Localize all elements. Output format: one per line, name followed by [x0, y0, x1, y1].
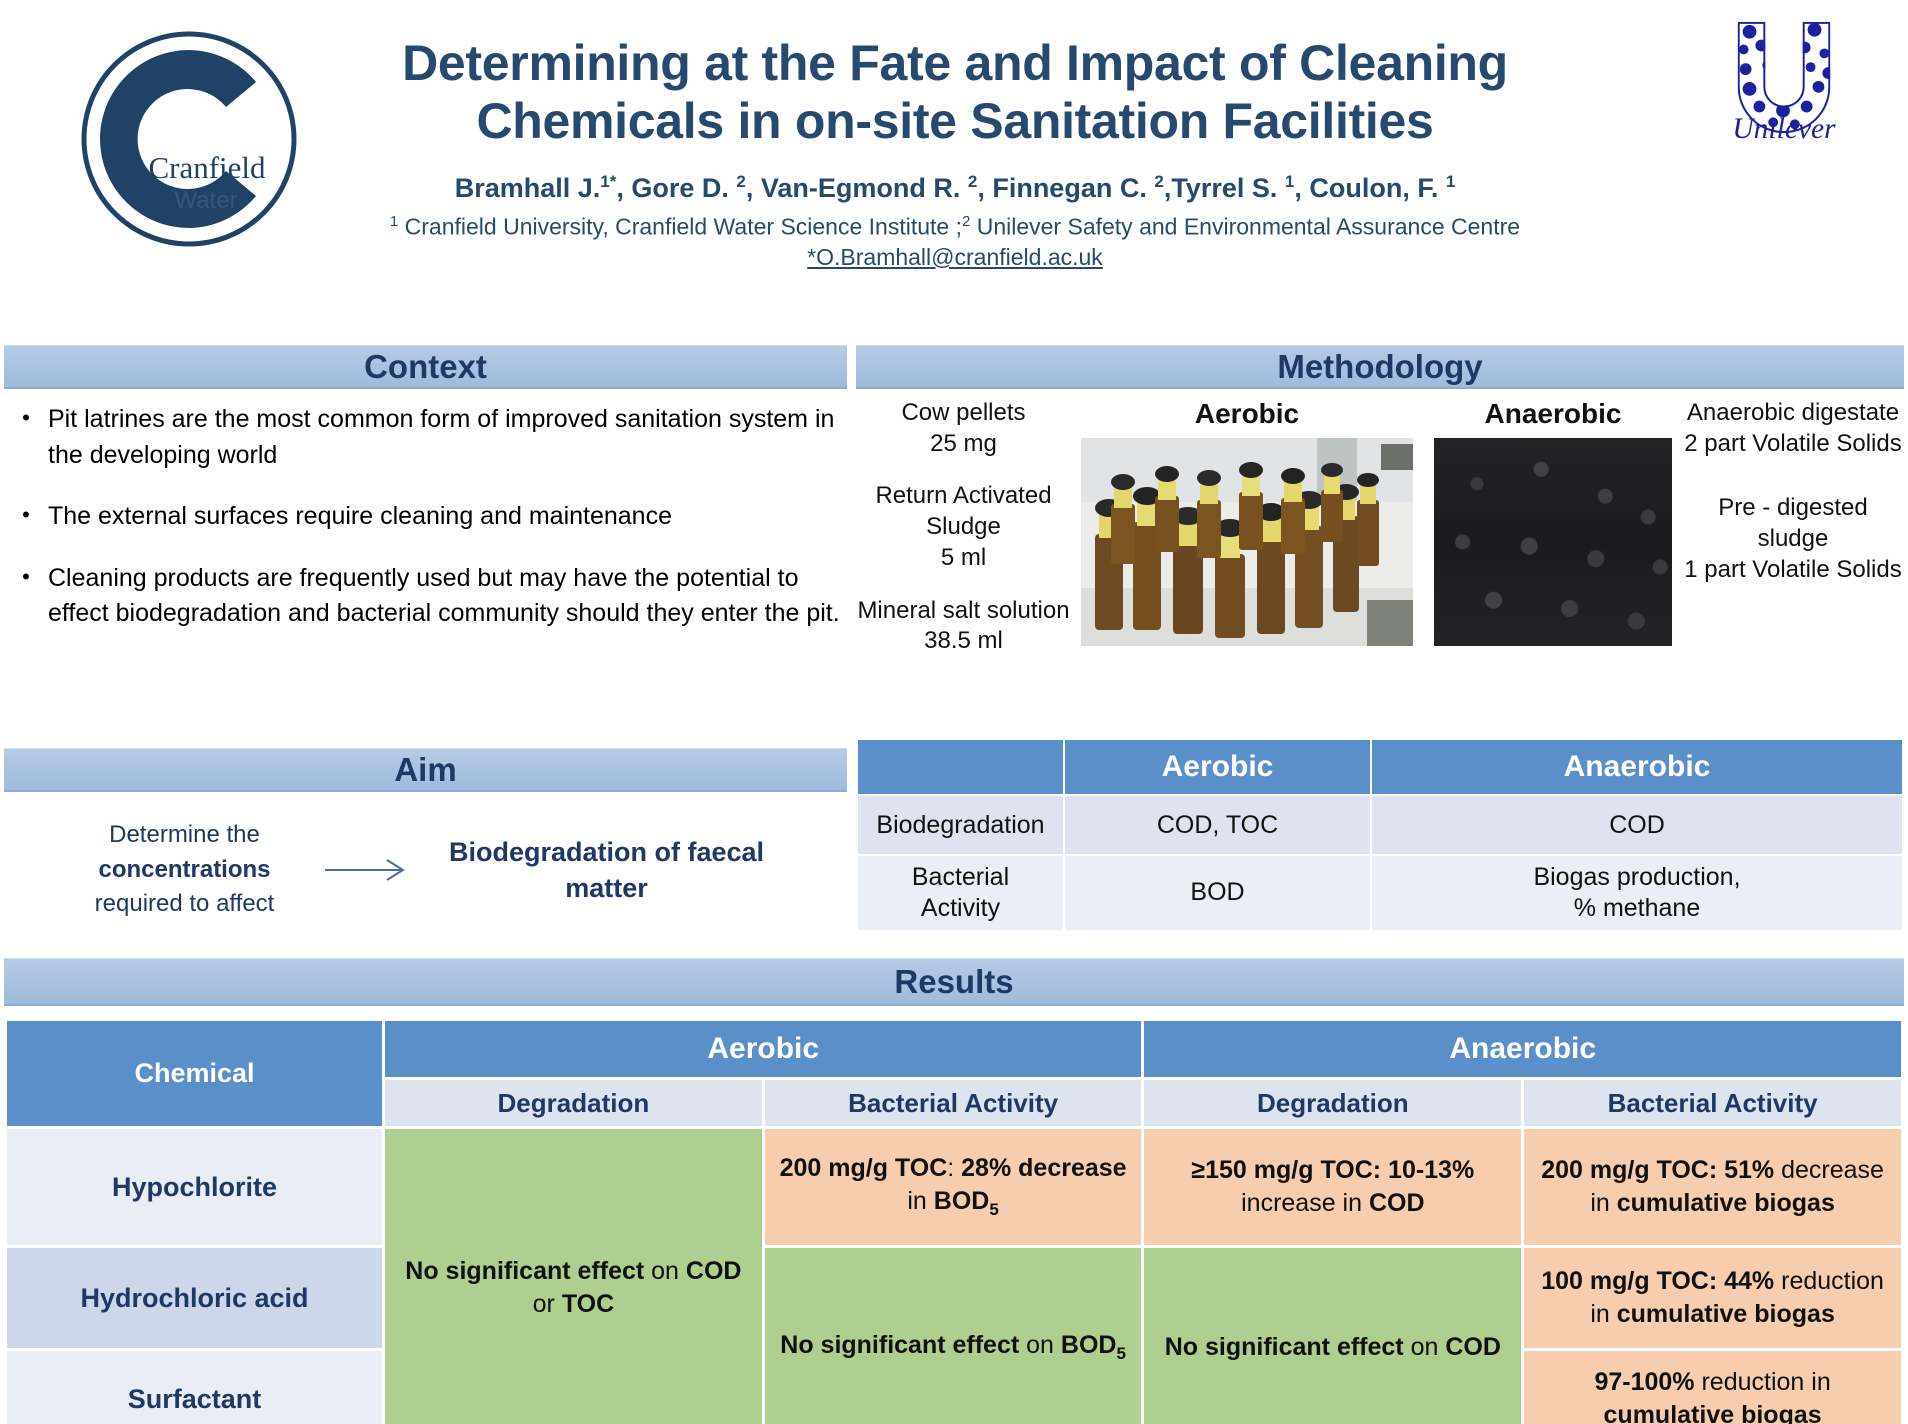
cell-anaerobic-degradation-merged: No significant effect on COD	[1144, 1248, 1521, 1424]
table-row: BacterialActivity BOD Biogas production,…	[858, 856, 1902, 930]
cranfield-logo-line2: Water	[174, 187, 237, 214]
context-bullet-text: Pit latrines are the most common form of…	[48, 402, 847, 473]
context-body: • Pit latrines are the most common form …	[4, 402, 847, 658]
methodology-row-label: BacterialActivity	[858, 856, 1063, 930]
aim-heading-label: Aim	[394, 751, 456, 789]
context-bullet-text: The external surfaces require cleaning a…	[48, 499, 672, 535]
aim-body: Determine theconcentrationsrequired to a…	[4, 800, 847, 940]
author-list: Bramhall J.1*, Gore D. 2, Van-Egmond R. …	[320, 172, 1590, 204]
aerobic-photo-label: Aerobic	[1081, 398, 1413, 430]
results-chemical-hydrochloric-acid: Hydrochloric acid	[7, 1248, 382, 1348]
results-chemical-hypochlorite: Hypochlorite	[7, 1129, 382, 1245]
bullet-icon: •	[4, 561, 48, 632]
poster-header: Cranfield Water Determining at the Fate …	[0, 0, 1908, 330]
methodology-row-label: Biodegradation	[858, 796, 1063, 854]
methodology-inputs-anaerobic: Anaerobic digestate 2 part Volatile Soli…	[1684, 398, 1902, 608]
methodology-input-item: Anaerobic digestate 2 part Volatile Soli…	[1684, 398, 1902, 459]
unilever-wordmark: Unilever	[1732, 113, 1836, 142]
aerobic-bottles-photo	[1081, 438, 1413, 646]
affiliation-text[interactable]: 1 Cranfield University, Cranfield Water …	[320, 212, 1590, 272]
cell-aerobic-degradation-all: No significant effect on COD or TOC	[385, 1129, 762, 1424]
anaerobic-photo-block: Anaerobic	[1434, 398, 1672, 646]
list-item: • The external surfaces require cleaning…	[4, 499, 847, 535]
results-heading-label: Results	[894, 963, 1013, 1001]
methodology-table-corner	[858, 740, 1063, 794]
cranfield-water-logo: Cranfield Water	[78, 28, 300, 250]
section-header-context: Context	[4, 345, 847, 389]
methodology-col-anaerobic: Anaerobic	[1372, 740, 1902, 794]
section-header-results: Results	[4, 958, 1904, 1006]
poster-canvas: Cranfield Water Determining at the Fate …	[0, 0, 1908, 1424]
table-row: Biodegradation COD, TOC COD	[858, 796, 1902, 854]
section-header-methodology: Methodology	[856, 345, 1904, 389]
results-group-header-row: Chemical Aerobic Anaerobic	[7, 1021, 1901, 1077]
methodology-heading-label: Methodology	[1277, 348, 1482, 386]
methodology-col-aerobic: Aerobic	[1065, 740, 1370, 794]
list-item: • Cleaning products are frequently used …	[4, 561, 847, 632]
anaerobic-photo-label: Anaerobic	[1434, 398, 1672, 430]
results-chemical-surfactant: Surfactant	[7, 1351, 382, 1424]
results-group-aerobic: Aerobic	[385, 1021, 1141, 1077]
table-row: Hypochlorite No significant effect on CO…	[7, 1129, 1901, 1245]
table-row: Hydrochloric acid No significant effect …	[7, 1248, 1901, 1348]
page-title: Determining at the Fate and Impact of Cl…	[320, 34, 1590, 150]
methodology-cell-anaerobic: Biogas production,% methane	[1372, 856, 1902, 930]
context-bullet-text: Cleaning products are frequently used bu…	[48, 561, 847, 632]
methodology-inputs-aerobic: Cow pellets 25 mg Return Activated Sludg…	[856, 398, 1071, 679]
methodology-table: Aerobic Anaerobic Biodegradation COD, TO…	[856, 738, 1904, 932]
results-sub-anaerobic-bacterial: Bacterial Activity	[1524, 1080, 1901, 1126]
cell-anaerobic-bacterial-hcl: 100 mg/g TOC: 44% reduction in cumulativ…	[1524, 1248, 1901, 1348]
bullet-icon: •	[4, 499, 48, 535]
cell-anaerobic-bacterial-surfactant: 97-100% reduction in cumulative biogas	[1524, 1351, 1901, 1424]
results-group-anaerobic: Anaerobic	[1144, 1021, 1901, 1077]
methodology-body: Cow pellets 25 mg Return Activated Sludg…	[856, 398, 1904, 728]
list-item: • Pit latrines are the most common form …	[4, 402, 847, 473]
context-heading-label: Context	[364, 348, 487, 386]
results-col-chemical: Chemical	[7, 1021, 382, 1126]
aerobic-photo-block: Aerobic	[1081, 398, 1413, 646]
methodology-input-item: Pre - digested sludge 1 part Volatile So…	[1684, 493, 1902, 585]
section-header-aim: Aim	[4, 748, 847, 792]
cell-aerobic-bacterial-hypochlorite: 200 mg/g TOC: 28% decrease in BOD5	[765, 1129, 1142, 1245]
aim-right-text: Biodegradation of faecal matter	[417, 834, 797, 907]
methodology-input-item: Cow pellets 25 mg	[856, 398, 1071, 459]
cranfield-logo-line1: Cranfield	[148, 150, 266, 185]
anaerobic-reactors-photo	[1434, 438, 1672, 646]
cell-aerobic-bacterial-merged: No significant effect on BOD5	[765, 1248, 1142, 1424]
title-block: Determining at the Fate and Impact of Cl…	[320, 34, 1590, 273]
arrow-right-icon	[319, 857, 413, 883]
methodology-cell-aerobic: BOD	[1065, 856, 1370, 930]
results-table: Chemical Aerobic Anaerobic Degradation B…	[4, 1018, 1904, 1424]
results-sub-anaerobic-degradation: Degradation	[1144, 1080, 1521, 1126]
aim-left-text: Determine theconcentrationsrequired to a…	[55, 818, 315, 922]
methodology-input-item: Mineral salt solution 38.5 ml	[856, 596, 1071, 657]
results-sub-aerobic-degradation: Degradation	[385, 1080, 762, 1126]
table-header-row: Aerobic Anaerobic	[858, 740, 1902, 794]
cell-anaerobic-degradation-hypochlorite: ≥150 mg/g TOC: 10-13% increase in COD	[1144, 1129, 1521, 1245]
unilever-logo: Unilever	[1676, 14, 1891, 259]
methodology-input-item: Return Activated Sludge 5 ml	[856, 481, 1071, 573]
methodology-cell-aerobic: COD, TOC	[1065, 796, 1370, 854]
bullet-icon: •	[4, 402, 48, 473]
results-sub-aerobic-bacterial: Bacterial Activity	[765, 1080, 1142, 1126]
cell-anaerobic-bacterial-hypochlorite: 200 mg/g TOC: 51% decrease in cumulative…	[1524, 1129, 1901, 1245]
methodology-cell-anaerobic: COD	[1372, 796, 1902, 854]
